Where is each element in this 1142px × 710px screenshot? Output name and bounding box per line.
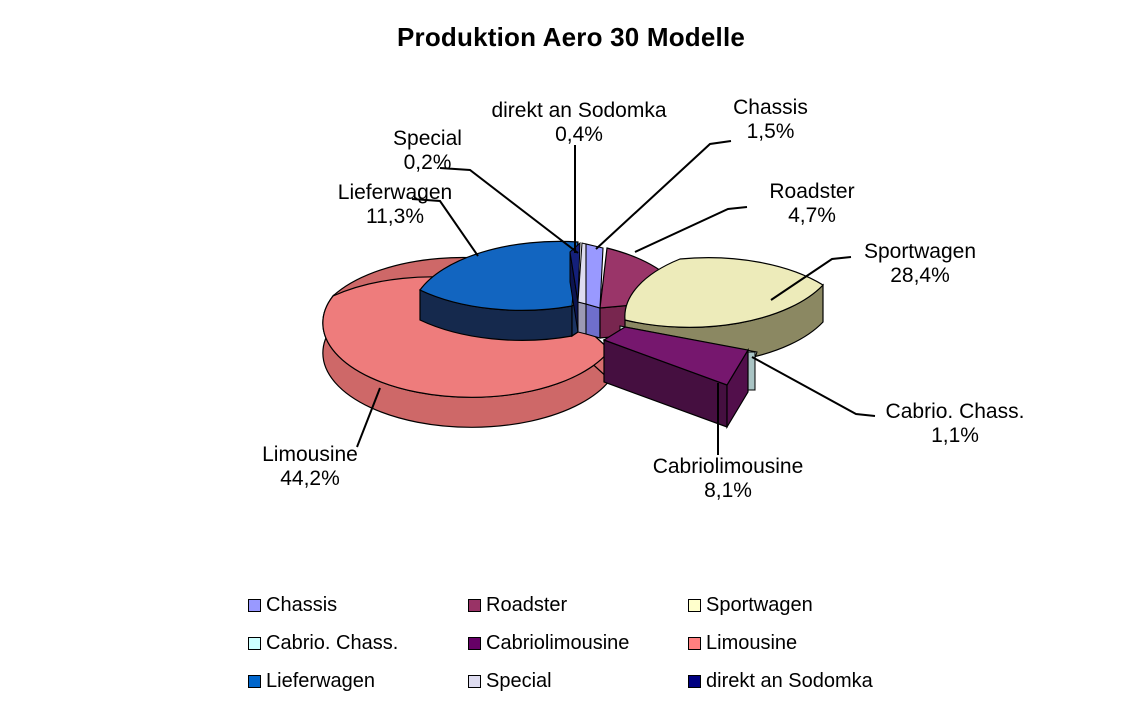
legend-swatch-icon	[688, 599, 701, 612]
pie-chart-figure: Produktion Aero 30 Modelle	[0, 0, 1142, 710]
legend-label: Limousine	[706, 632, 797, 655]
legend-item-special[interactable]: Special	[468, 668, 688, 694]
legend-label: Chassis	[266, 594, 337, 617]
slice-label-pct: 0,4%	[489, 123, 669, 147]
legend-item-lieferwagen[interactable]: Lieferwagen	[248, 668, 468, 694]
slice-label-name: Roadster	[742, 180, 882, 204]
legend-item-chassis[interactable]: Chassis	[248, 592, 468, 618]
slice-label-name: Sportwagen	[845, 240, 995, 264]
legend-item-cabrio-chass[interactable]: Cabrio. Chass.	[248, 630, 468, 656]
slice-label-pct: 1,5%	[703, 120, 838, 144]
legend-label: Lieferwagen	[266, 670, 375, 693]
legend-swatch-icon	[468, 637, 481, 650]
legend-item-cabriolimousine[interactable]: Cabriolimousine	[468, 630, 688, 656]
leader-line-roadster	[635, 207, 747, 252]
slice-label-name: Cabrio. Chass.	[870, 400, 1040, 424]
legend-swatch-icon	[688, 675, 701, 688]
slice-label-pct: 8,1%	[638, 479, 818, 503]
legend-item-roadster[interactable]: Roadster	[468, 592, 688, 618]
legend-swatch-icon	[468, 599, 481, 612]
slice-label-roadster: Roadster 4,7%	[742, 180, 882, 227]
legend-swatch-icon	[248, 637, 261, 650]
slice-label-name: Limousine	[245, 443, 375, 467]
slice-label-name: Lieferwagen	[315, 181, 475, 205]
slice-label-name: Special	[360, 127, 495, 151]
plot-area: direkt an Sodomka 0,4% Special 0,2% Lief…	[0, 0, 1142, 560]
legend-label: Roadster	[486, 594, 567, 617]
legend-label: Cabriolimousine	[486, 632, 629, 655]
slice-label-chassis: Chassis 1,5%	[703, 96, 838, 143]
slice-label-special: Special 0,2%	[360, 127, 495, 174]
legend-swatch-icon	[248, 599, 261, 612]
chart-legend: Chassis Roadster Sportwagen Cabrio. Chas…	[248, 592, 908, 702]
slice-label-name: Chassis	[703, 96, 838, 120]
leader-line-chassis	[596, 141, 731, 249]
slice-label-pct: 44,2%	[245, 467, 375, 491]
legend-item-direkt-an-sodomka[interactable]: direkt an Sodomka	[688, 668, 908, 694]
legend-row: Lieferwagen Special direkt an Sodomka	[248, 668, 908, 694]
legend-item-sportwagen[interactable]: Sportwagen	[688, 592, 908, 618]
slice-label-cabrio-chass: Cabrio. Chass. 1,1%	[870, 400, 1040, 447]
leader-line-cabrio-chass	[752, 357, 875, 416]
legend-row: Cabrio. Chass. Cabriolimousine Limousine	[248, 630, 908, 656]
slice-label-name: Cabriolimousine	[638, 455, 818, 479]
slice-label-pct: 1,1%	[870, 424, 1040, 448]
legend-swatch-icon	[468, 675, 481, 688]
legend-item-limousine[interactable]: Limousine	[688, 630, 908, 656]
slice-label-pct: 0,2%	[360, 151, 495, 175]
slice-label-sportwagen: Sportwagen 28,4%	[845, 240, 995, 287]
legend-label: Special	[486, 670, 552, 693]
slice-label-pct: 11,3%	[315, 205, 475, 229]
slice-label-pct: 28,4%	[845, 264, 995, 288]
slice-label-cabriolimousine: Cabriolimousine 8,1%	[638, 455, 818, 502]
slice-label-pct: 4,7%	[742, 204, 882, 228]
legend-label: direkt an Sodomka	[706, 670, 873, 693]
slice-lieferwagen[interactable]	[420, 241, 578, 340]
legend-label: Cabrio. Chass.	[266, 632, 398, 655]
legend-swatch-icon	[688, 637, 701, 650]
slice-label-name: direkt an Sodomka	[489, 99, 669, 123]
slice-label-direkt-an-sodomka: direkt an Sodomka 0,4%	[489, 99, 669, 146]
slice-label-lieferwagen: Lieferwagen 11,3%	[315, 181, 475, 228]
legend-row: Chassis Roadster Sportwagen	[248, 592, 908, 618]
legend-swatch-icon	[248, 675, 261, 688]
slice-label-limousine: Limousine 44,2%	[245, 443, 375, 490]
legend-label: Sportwagen	[706, 594, 813, 617]
